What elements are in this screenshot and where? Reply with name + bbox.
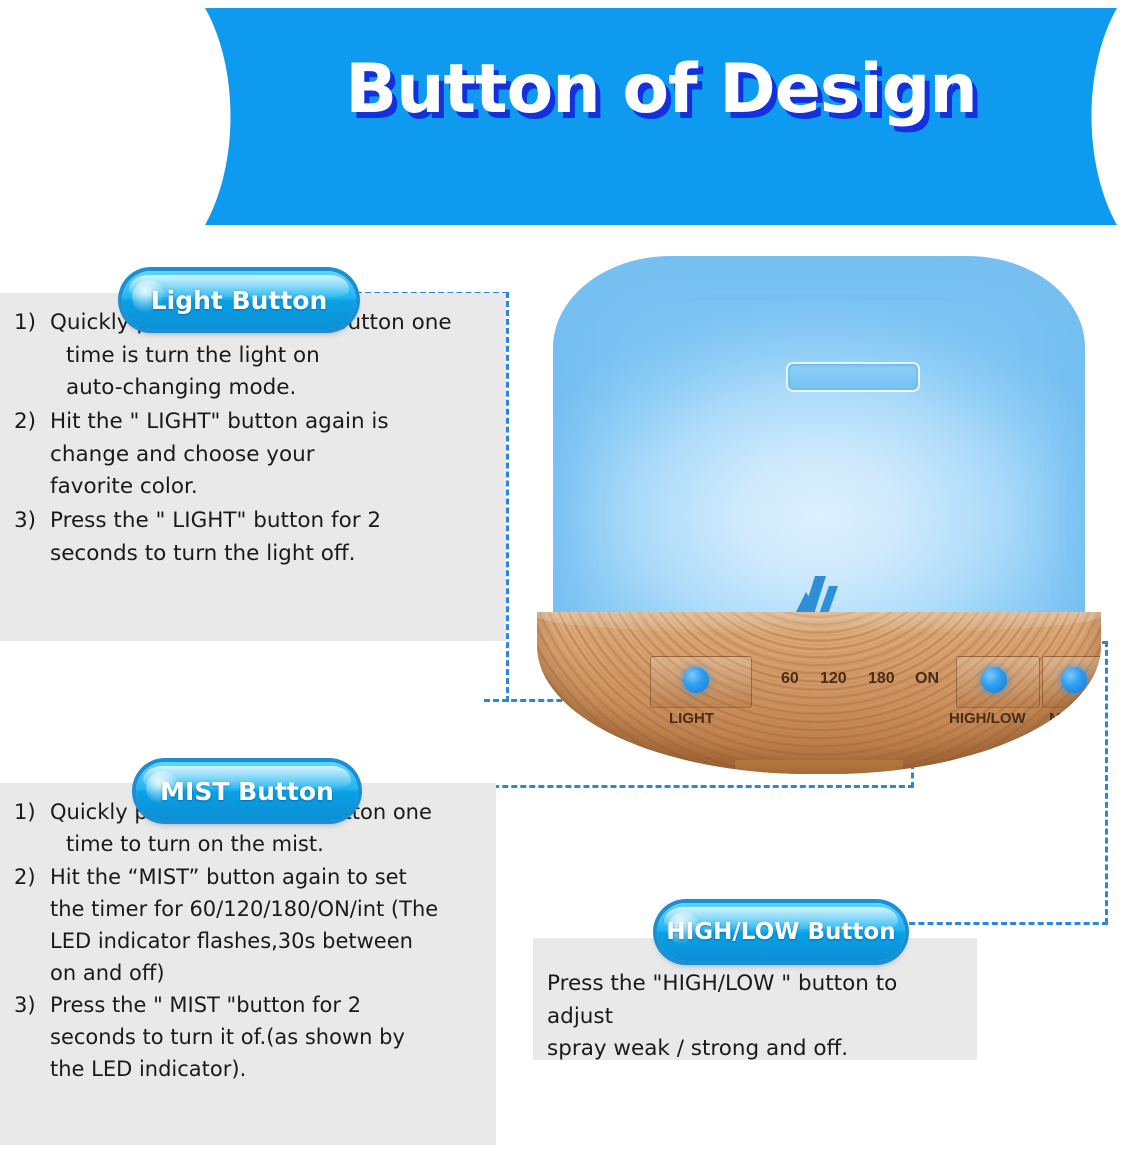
light-steps-list: 1) Quickly press the "LIGHT" button one … — [14, 307, 496, 571]
mist-button-pill-label[interactable]: MIST Button — [136, 762, 358, 820]
pill-label-text: MIST Button — [160, 777, 334, 806]
step-line: on and off) — [50, 958, 486, 990]
description-line: Press the "HIGH/LOW " button to adjust — [547, 971, 897, 1029]
step-line: seconds to turn the light off. — [50, 538, 496, 571]
high-low-button-caption: HIGH/LOW — [949, 710, 1026, 727]
step-line: LED indicator flashes,30s between — [50, 926, 486, 958]
step-text: Press the " MIST "button for 2 seconds t… — [50, 990, 486, 1086]
mist-button-info-panel: 1) Quickly press the “MIST” button one t… — [0, 783, 496, 1145]
list-item: 3) Press the " MIST "button for 2 second… — [14, 990, 486, 1086]
mist-outlet-vent-icon — [786, 362, 920, 392]
diffuser-wood-base: LIGHT 60 120 180 ON HIGH/LOW MIST — [537, 612, 1101, 774]
list-item: 2) Hit the “MIST” button again to set th… — [14, 862, 486, 990]
list-item: 2) Hit the " LIGHT" button again is chan… — [14, 406, 496, 504]
step-line: Hit the “MIST” button again to set — [50, 865, 407, 889]
pill-label-text: Light Button — [151, 286, 328, 315]
base-top-lip — [537, 612, 1101, 634]
step-line: time to turn on the mist. — [50, 829, 486, 861]
step-line: time is turn the light on — [50, 340, 496, 373]
pill-label-text: HIGH/LOW Button — [666, 919, 895, 945]
mist-button-caption: MIST — [1049, 710, 1085, 727]
step-text: Hit the " LIGHT" button again is change … — [50, 406, 496, 504]
step-line: the LED indicator). — [50, 1054, 486, 1086]
mist-steps-list: 1) Quickly press the “MIST” button one t… — [14, 797, 486, 1087]
product-diffuser-image: MISERWE LIGHT 60 120 180 ON HIGH/LOW MIS… — [531, 256, 1107, 776]
timer-label-180: 180 — [868, 670, 895, 688]
step-number: 3) — [14, 990, 50, 1086]
mist-button-led-indicator — [1061, 667, 1087, 693]
light-button-info-panel: 1) Quickly press the "LIGHT" button one … — [0, 293, 506, 641]
step-text: Hit the “MIST” button again to set the t… — [50, 862, 486, 990]
step-number: 1) — [14, 307, 50, 405]
step-number: 1) — [14, 797, 50, 861]
light-button-caption: LIGHT — [669, 710, 714, 727]
high-low-button-led-indicator — [981, 667, 1007, 693]
miserwe-mountain-logo-icon — [790, 574, 848, 616]
high-low-description: Press the "HIGH/LOW " button to adjust s… — [547, 968, 969, 1066]
light-button-pill-label[interactable]: Light Button — [122, 271, 356, 329]
step-line: the timer for 60/120/180/ON/int (The — [50, 894, 486, 926]
light-button-led-indicator — [683, 667, 709, 693]
step-number: 2) — [14, 406, 50, 504]
step-number: 2) — [14, 862, 50, 990]
step-text: Press the " LIGHT" button for 2 seconds … — [50, 505, 496, 570]
description-line: spray weak / strong and off. — [547, 1036, 848, 1061]
step-line: Press the " LIGHT" button for 2 — [50, 508, 381, 533]
step-number: 3) — [14, 505, 50, 570]
connector-highlow-h2 — [900, 922, 1108, 925]
step-line: auto-changing mode. — [50, 372, 496, 405]
infographic-canvas: Button of Design MISERWE LI — [0, 0, 1147, 1157]
timer-label-on: ON — [915, 670, 939, 688]
step-line: Press the " MIST "button for 2 — [50, 993, 361, 1017]
base-foot — [735, 760, 903, 774]
step-line: Hit the " LIGHT" button again is — [50, 409, 389, 434]
step-line: seconds to turn it of.(as shown by — [50, 1022, 486, 1054]
timer-label-120: 120 — [820, 670, 847, 688]
high-low-button-pill-label[interactable]: HIGH/LOW Button — [657, 903, 905, 961]
step-line: change and choose your — [50, 439, 496, 472]
step-line: favorite color. — [50, 471, 496, 504]
list-item: 3) Press the " LIGHT" button for 2 secon… — [14, 505, 496, 570]
title-banner: Button of Design — [178, 6, 1144, 228]
connector-light-v — [506, 292, 509, 702]
page-title: Button of Design — [178, 50, 1144, 129]
timer-label-60: 60 — [781, 670, 799, 688]
